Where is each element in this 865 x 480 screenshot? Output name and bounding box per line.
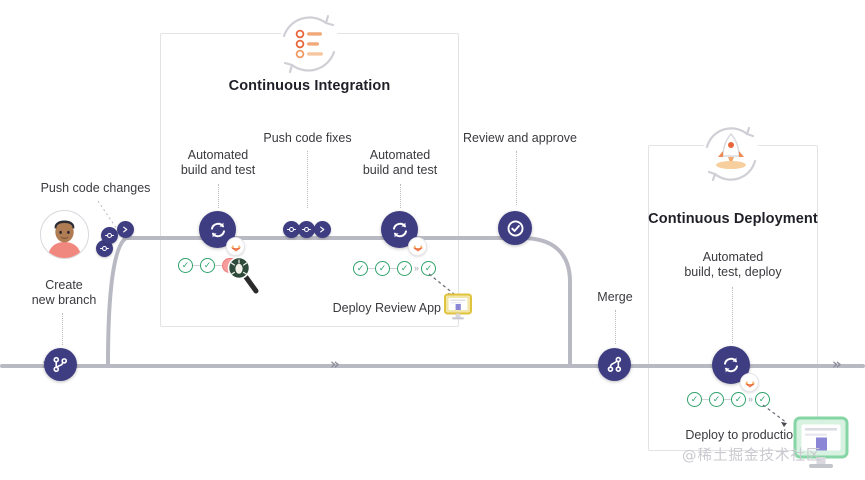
create-new-branch-leader [62,313,63,345]
pipeline-stage-passed[interactable]: ✓ [709,392,724,407]
push-code-fixes-leader [307,151,308,208]
pipeline-production: ✓ ✓ ✓ » ✓ [687,392,770,407]
pipeline-stage-passed[interactable]: ✓ [687,392,702,407]
watermark: @稀土掘金技术社区 [682,444,822,465]
feature-branch-path [52,190,652,370]
cicd-diagram: Continuous Integration Continuous Deploy… [0,0,865,480]
gitlab-fox-badge-icon [226,237,245,256]
developer-avatar-icon [40,210,89,259]
label-push-code-changes: Push code changes [18,181,173,196]
label-automated-build-test-2-line1: Automated [345,148,455,163]
label-deploy-review-app: Deploy Review App [311,301,441,316]
gitlab-fox-badge-icon [408,237,427,256]
review-app-monitor-icon [444,293,472,321]
label-push-code-fixes: Push code fixes [245,131,370,146]
node-create-new-branch[interactable] [44,348,77,381]
label-deploy-to-production: Deploy to production [660,428,800,443]
refresh-cycle-icon [208,220,228,240]
node-review-and-approve[interactable] [498,211,532,245]
bug-magnifier-icon [226,255,264,297]
rocket-refresh-icon [695,120,767,188]
refresh-cycle-icon [390,220,410,240]
checklist-refresh-icon [270,8,348,80]
check-circle-icon [506,219,525,238]
label-automated-build-test-1-line2: build and test [163,163,273,178]
panel-title-ci: Continuous Integration [160,78,459,94]
pipeline-stage-passed[interactable]: ✓ [178,258,193,273]
label-create-new-branch-line1: Create [14,278,114,293]
label-review-and-approve: Review and approve [455,131,585,146]
label-automated-build-test-1-line1: Automated [163,148,273,163]
build-test-2-leader [400,184,401,208]
timeline-chevron-icon: » [832,357,842,372]
node-merge[interactable] [598,348,631,381]
production-arrow [761,403,797,431]
pipeline-link [193,265,200,267]
pipeline-link [215,265,222,267]
git-branch-icon [52,356,69,373]
deploy-leader [732,287,733,343]
branch-dot-icon[interactable] [314,221,331,238]
label-automated-build-test-2-line2: build and test [345,163,455,178]
git-merge-icon [606,356,623,373]
commit-dot-icon[interactable] [298,221,315,238]
label-create-new-branch-line2: new branch [14,293,114,308]
label-automated-build-test-deploy-line2: build, test, deploy [663,265,803,280]
pipeline-stage-passed[interactable]: ✓ [397,261,412,276]
label-automated-build-test-deploy-line1: Automated [663,250,803,265]
refresh-cycle-icon [721,355,741,375]
gitlab-fox-badge-icon [740,373,759,392]
pipeline-chevron-icon: » [746,395,755,404]
pipeline-stage-passed[interactable]: ✓ [200,258,215,273]
review-approve-leader [516,151,517,205]
pipeline-link [724,399,731,401]
pipeline-link [702,399,709,401]
pipeline-stage-passed[interactable]: ✓ [375,261,390,276]
build-test-1-leader [218,184,219,208]
branch-dot-icon[interactable] [117,221,134,238]
label-merge: Merge [580,290,650,305]
pipeline-link [390,268,397,270]
merge-leader [615,310,616,344]
panel-title-cd: Continuous Deployment [648,211,818,227]
commit-dot-icon[interactable] [101,227,118,244]
pipeline-link [368,268,375,270]
pipeline-stage-passed[interactable]: ✓ [731,392,746,407]
pipeline-stage-passed[interactable]: ✓ [353,261,368,276]
pipeline-review: ✓ ✓ ✓ » ✓ [353,261,436,276]
pipeline-chevron-icon: » [412,264,421,273]
